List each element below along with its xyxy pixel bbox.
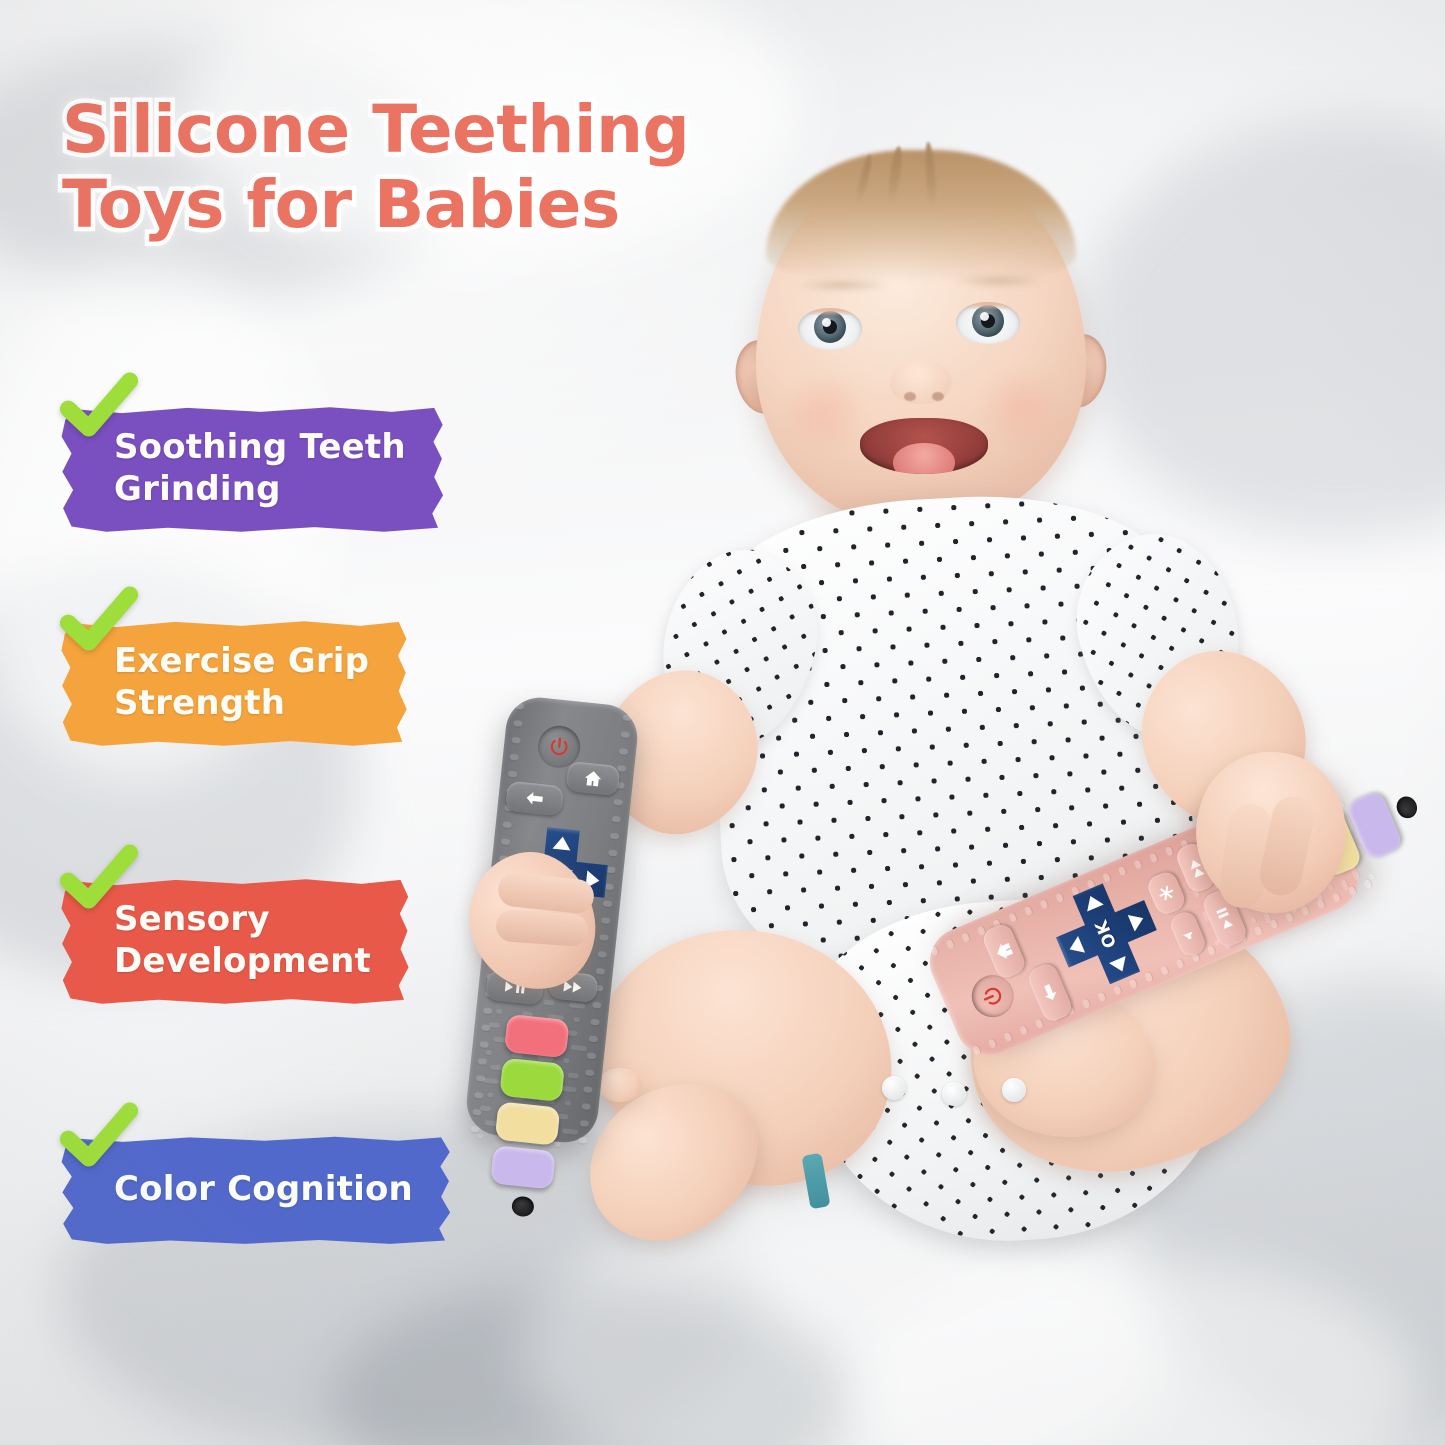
arrow-up-icon xyxy=(552,836,571,851)
power-icon xyxy=(547,735,571,759)
arrow-left-icon xyxy=(1109,956,1131,975)
diaper-snap xyxy=(942,1082,966,1106)
check-icon xyxy=(58,840,140,922)
baby-right-cheek xyxy=(974,374,1070,444)
baby-mouth xyxy=(860,418,988,474)
baby-left-eye xyxy=(798,308,862,350)
baby-hair xyxy=(766,150,1076,282)
baby-tongue xyxy=(893,443,955,474)
baby-left-brow xyxy=(794,278,890,292)
purple-button[interactable] xyxy=(490,1145,556,1189)
baby-subject xyxy=(560,130,1440,1360)
product-lifestyle-scene: OK xyxy=(0,0,1445,1445)
home-button[interactable] xyxy=(566,761,621,796)
mute-icon xyxy=(1178,923,1198,944)
back-button[interactable] xyxy=(505,781,564,817)
badge-label: Color Cognition xyxy=(114,1168,413,1210)
baby-nostril xyxy=(904,392,916,401)
baby-nostril xyxy=(932,392,944,401)
green-button[interactable] xyxy=(499,1058,565,1102)
feature-badge-soothing-teeth-grinding: Soothing Teeth Grinding xyxy=(60,404,446,534)
baby-left-fingers xyxy=(495,909,589,947)
play-pause-icon xyxy=(1214,905,1236,933)
diaper-snap xyxy=(1002,1078,1026,1102)
check-icon xyxy=(58,582,140,664)
left-iris xyxy=(814,311,846,343)
title-line-1: Silicone Teething xyxy=(62,96,762,163)
arrow-up-icon xyxy=(1066,936,1085,958)
left-eyelid xyxy=(798,308,862,316)
right-eyelid xyxy=(956,302,1020,310)
diaper-snap xyxy=(882,1076,906,1100)
check-icon xyxy=(58,368,140,450)
badge-label: Soothing Teeth Grinding xyxy=(114,426,406,510)
red-button[interactable] xyxy=(504,1014,570,1058)
page-title: Silicone Teething Toys for Babies xyxy=(62,96,762,239)
baby-toes-left xyxy=(598,1068,642,1102)
check-icon xyxy=(58,1098,140,1180)
power-icon xyxy=(978,982,1007,1011)
baby-right-brow xyxy=(952,274,1048,288)
arrow-right-icon xyxy=(1082,893,1104,912)
baby-left-cheek xyxy=(776,378,872,448)
arrow-down-icon xyxy=(1128,910,1147,932)
yellow-button[interactable] xyxy=(495,1101,561,1145)
feature-badge-sensory-development: Sensory Development xyxy=(60,876,411,1006)
back-arrow-icon xyxy=(523,789,547,807)
home-icon xyxy=(582,769,604,789)
back-arrow-icon xyxy=(1038,979,1061,1006)
badge-label: Sensory Development xyxy=(114,898,371,982)
title-line-2: Toys for Babies xyxy=(62,171,762,238)
feature-badge-exercise-grip-strength: Exercise Grip Strength xyxy=(60,618,409,748)
feature-badge-color-cognition: Color Cognition xyxy=(60,1134,453,1246)
right-iris xyxy=(972,305,1004,337)
badge-label: Exercise Grip Strength xyxy=(114,640,369,724)
baby-right-eye xyxy=(956,302,1020,344)
home-icon xyxy=(992,938,1016,963)
dpad-ok-label: OK xyxy=(1092,917,1122,951)
asterisk-icon xyxy=(1154,881,1178,905)
